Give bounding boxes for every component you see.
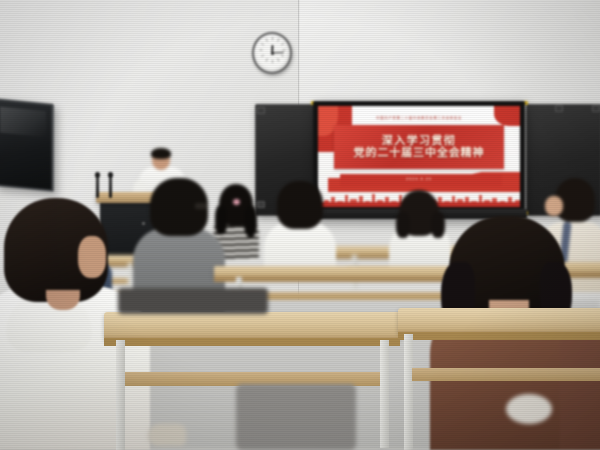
presenter-hair bbox=[151, 148, 171, 159]
slide-title-line-1: 深入学习贯彻 bbox=[382, 136, 456, 147]
clock-tick bbox=[283, 50, 286, 51]
shoe bbox=[148, 424, 186, 446]
podium-latch bbox=[142, 222, 145, 225]
left-wall-display bbox=[0, 98, 54, 192]
microphone-right-head bbox=[108, 172, 113, 178]
clock-tick bbox=[260, 50, 263, 51]
board-knob bbox=[257, 107, 265, 114]
microphone-right bbox=[109, 176, 112, 198]
microphone-left bbox=[96, 176, 99, 198]
microphone-left-head bbox=[95, 172, 100, 178]
classroom-photo: 中国共产党第二十届中央委员会第三次全体会议 深入学习贯彻 党的二十届三中全会精神… bbox=[0, 0, 600, 450]
slide-subtitle: 中国共产党第二十届中央委员会第三次全体会议 bbox=[318, 115, 520, 120]
board-knob bbox=[555, 105, 563, 112]
chair-shadow bbox=[236, 384, 356, 450]
slide-date-text: 2024.9.20 bbox=[318, 176, 520, 181]
wall-clock bbox=[252, 32, 292, 74]
display-glare bbox=[0, 107, 46, 137]
slide-title-banner: 深入学习贯彻 党的二十届三中全会精神 bbox=[334, 125, 504, 169]
chair-back-dark bbox=[118, 288, 268, 314]
board-knob bbox=[592, 105, 600, 112]
slide-title-line-2: 党的二十届三中全会精神 bbox=[354, 148, 485, 159]
clock-tick bbox=[272, 60, 273, 63]
clock-tick bbox=[272, 37, 273, 40]
bag-under-desk bbox=[506, 394, 552, 424]
board-knob bbox=[257, 201, 265, 208]
clock-center-pin bbox=[271, 52, 274, 55]
